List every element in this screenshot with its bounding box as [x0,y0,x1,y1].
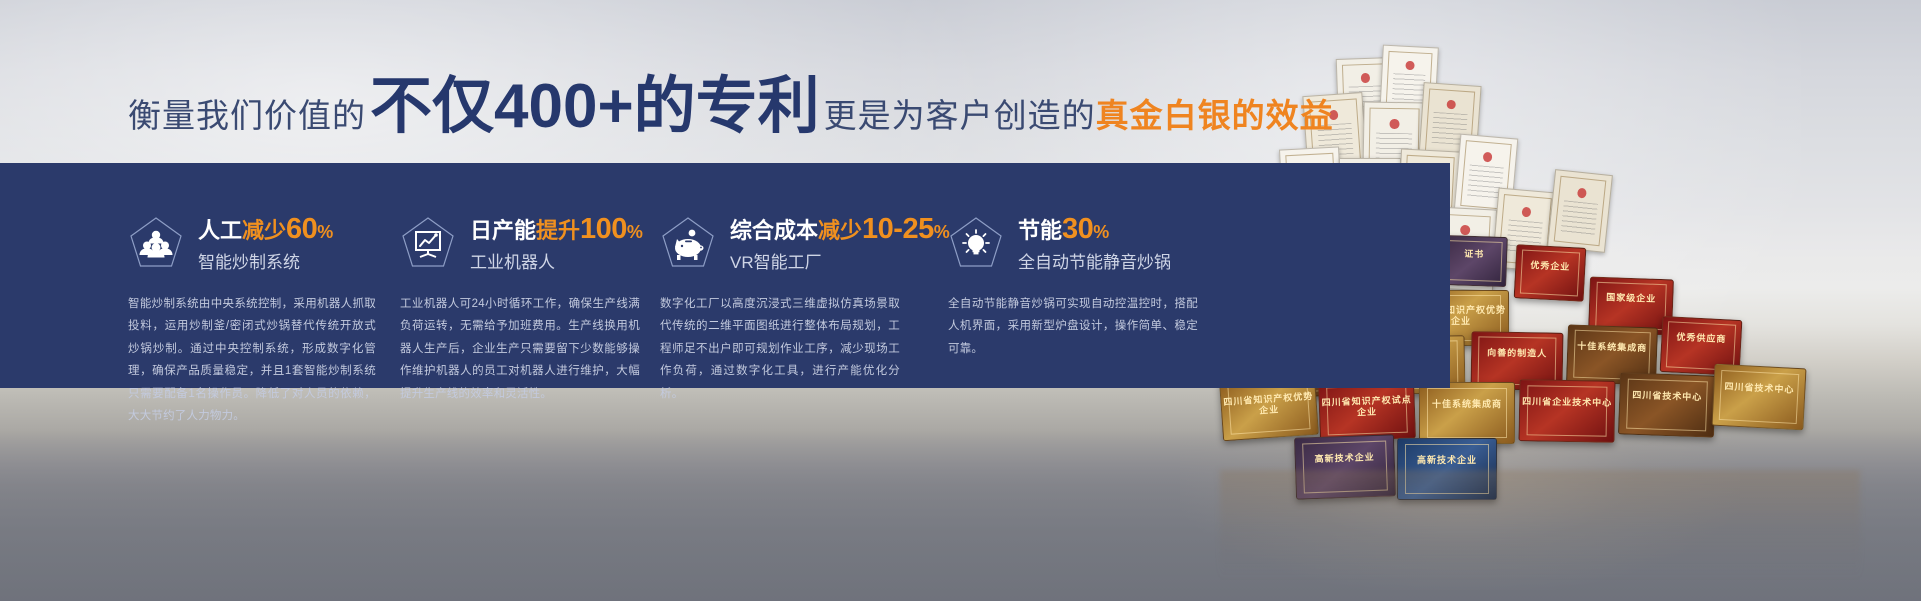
award-plaque: 四川省技术中心 [1618,372,1716,437]
feature-subtitle: 全自动节能静音炒锅 [1018,253,1171,273]
award-plaque: 优秀企业 [1514,244,1587,302]
feature-title: 日产能提升100% [470,213,643,246]
feature-header: 综合成本减少10-25% VR智能工厂 [660,213,960,273]
feature-title-prefix: 人工 [198,218,242,243]
feature-card-capacity: 日产能提升100% 工业机器人 工业机器人可24小时循环工作，确保生产线满负荷运… [400,163,670,392]
feature-header: 日产能提升100% 工业机器人 [400,213,670,273]
feature-body: 数字化工厂以高度沉浸式三维虚拟仿真场景取代传统的二维平面图纸进行整体布局规划，工… [660,293,900,405]
feature-title: 综合成本减少10-25% [730,213,950,246]
feature-title-unit: % [627,222,643,242]
headline-suffix: 真金白银的效益 [1096,99,1334,132]
banner-stage: 荣誉证书 证书 认证 优秀企业 成都市知识产权优势企业 国家级企业 四川省知识产… [0,0,1921,601]
feature-title-prefix: 节能 [1018,218,1062,243]
people-group-icon [128,215,184,271]
chart-board-icon [400,215,456,271]
feature-subtitle: 工业机器人 [470,253,643,273]
feature-title-highlight: 减少 [242,218,286,243]
feature-card-cost: 综合成本减少10-25% VR智能工厂 数字化工厂以高度沉浸式三维虚拟仿真场景取… [660,163,960,392]
award-plaque: 四川省企业技术中心 [1518,379,1615,443]
feature-body: 智能炒制系统由中央系统控制，采用机器人抓取投料，运用炒制釜/密闭式炒锅替代传统开… [128,293,376,428]
certificate-paper [1547,169,1613,253]
headline-emphasis: 不仅400+的专利 [370,76,820,138]
feature-title-number: 60 [286,213,317,245]
feature-body: 全自动节能静音炒锅可实现自动控温控时，搭配人机界面，采用新型炉盘设计，操作简单、… [948,293,1198,360]
feature-card-labor: 人工减少60% 智能炒制系统 智能炒制系统由中央系统控制，采用机器人抓取投料，运… [128,163,418,392]
feature-title-highlight: 减少 [818,218,862,243]
lightbulb-icon [948,215,1004,271]
feature-text: 人工减少60% 智能炒制系统 [198,213,333,273]
feature-title-number: 10-25 [862,213,934,245]
features-row: 人工减少60% 智能炒制系统 智能炒制系统由中央系统控制，采用机器人抓取投料，运… [0,163,1450,392]
feature-title: 节能30% [1018,213,1171,246]
award-plaque: 四川省技术中心 [1711,364,1806,431]
feature-body: 工业机器人可24小时循环工作，确保生产线满负荷运转，无需给予加班费用。生产线换用… [400,293,640,405]
feature-title-prefix: 日产能 [470,218,536,243]
feature-subtitle: VR智能工厂 [730,253,950,273]
headline-prefix: 衡量我们价值的 [128,99,366,132]
feature-subtitle: 智能炒制系统 [198,253,333,273]
feature-title-prefix: 综合成本 [730,218,818,243]
feature-title-number: 100 [580,213,627,245]
headline-middle: 更是为客户创造的 [824,99,1096,132]
headline: 衡量我们价值的 不仅400+的专利 更是为客户创造的 真金白银的效益 [128,76,1334,138]
feature-title-unit: % [1093,222,1109,242]
award-plaque: 高新技术企业 [1294,434,1396,499]
feature-title-number: 30 [1062,213,1093,245]
feature-text: 节能30% 全自动节能静音炒锅 [1018,213,1171,273]
award-plaque: 证书 [1440,235,1508,287]
feature-title: 人工减少60% [198,213,333,246]
feature-text: 日产能提升100% 工业机器人 [470,213,643,273]
piggy-bank-icon [660,215,716,271]
feature-title-highlight: 提升 [536,218,580,243]
feature-header: 节能30% 全自动节能静音炒锅 [948,213,1238,273]
feature-title-unit: % [317,222,333,242]
award-plaque: 高新技术企业 [1397,438,1497,500]
feature-card-energy: 节能30% 全自动节能静音炒锅 全自动节能静音炒锅可实现自动控温控时，搭配人机界… [948,163,1238,392]
feature-header: 人工减少60% 智能炒制系统 [128,213,418,273]
feature-text: 综合成本减少10-25% VR智能工厂 [730,213,950,273]
